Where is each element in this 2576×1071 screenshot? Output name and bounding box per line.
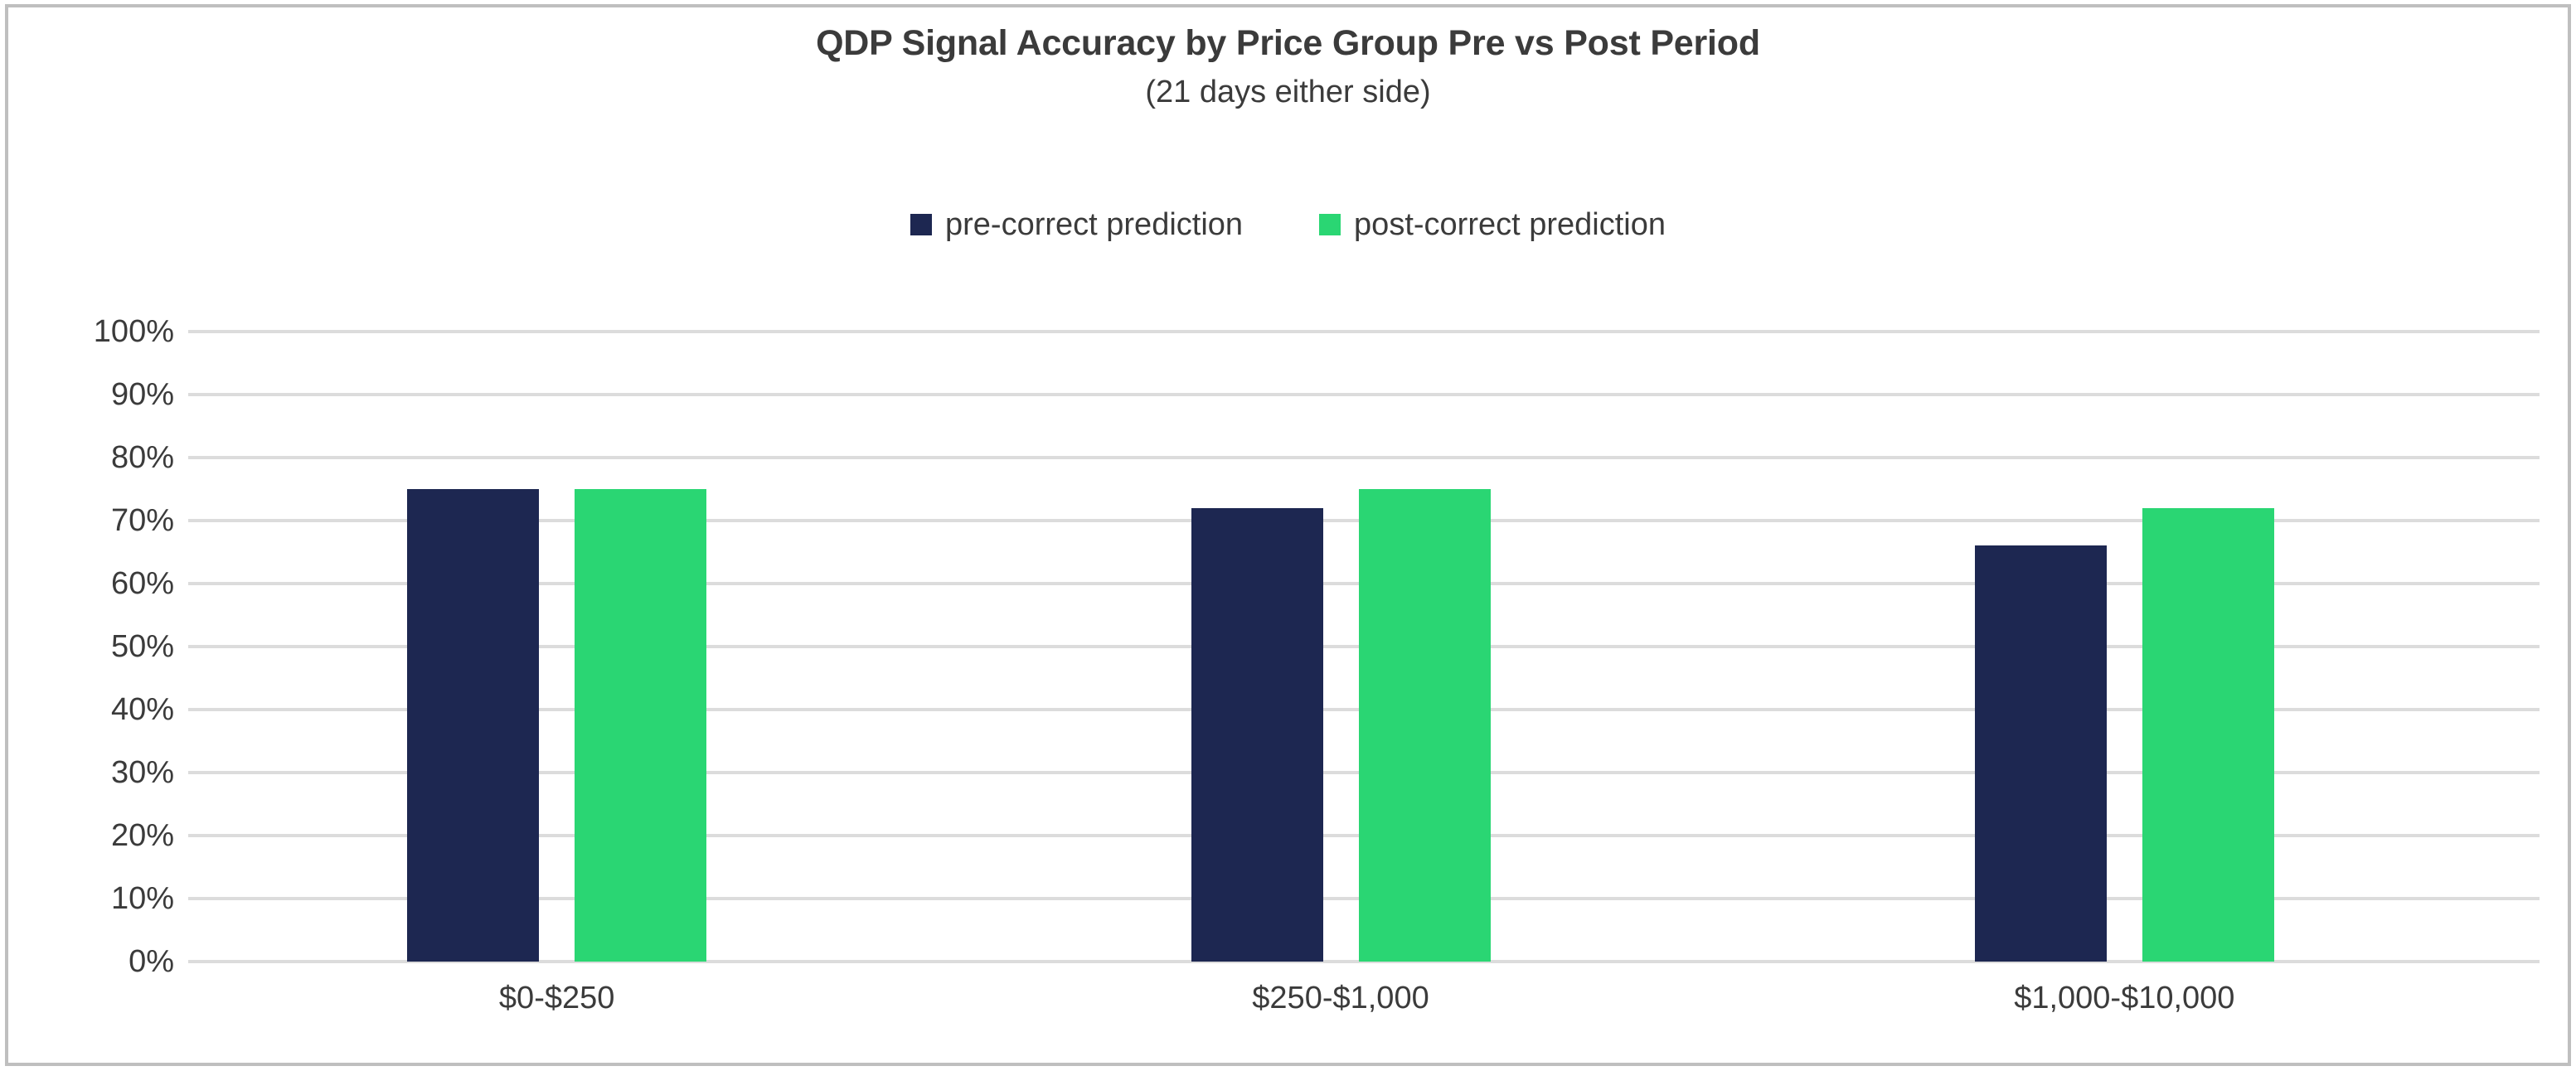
y-axis-tick-label: 60% [41,568,174,599]
y-axis-tick-label: 70% [41,505,174,536]
gridline [188,456,2540,459]
chart-frame: QDP Signal Accuracy by Price Group Pre v… [5,4,2571,1066]
x-axis-tick-label: $250-$1,000 [1252,982,1429,1014]
y-axis-tick-label: 80% [41,442,174,473]
y-axis-tick-label: 30% [41,757,174,788]
bar[interactable] [575,489,706,962]
gridline [188,330,2540,333]
y-axis-tick-label: 50% [41,631,174,662]
y-axis-tick-label: 10% [41,883,174,914]
plot-area [188,332,2540,962]
bar[interactable] [2142,508,2274,962]
y-axis-tick-label: 90% [41,379,174,410]
y-axis-tick-labels: 100%90%80%70%60%50%40%30%20%10%0% [41,332,174,962]
y-axis-tick-label: 20% [41,820,174,851]
x-axis-tick-labels: $0-$250$250-$1,000$1,000-$10,000 [188,982,2540,1032]
bar[interactable] [1191,508,1323,962]
y-axis-tick-label: 0% [41,946,174,977]
x-axis-tick-label: $1,000-$10,000 [2014,982,2234,1014]
y-axis-tick-label: 100% [41,316,174,347]
bar[interactable] [407,489,539,962]
chart-screenshot: QDP Signal Accuracy by Price Group Pre v… [0,0,2576,1071]
y-axis-tick-label: 40% [41,694,174,725]
plot-wrapper: 100%90%80%70%60%50%40%30%20%10%0% $0-$25… [8,7,2568,1063]
x-axis-tick-label: $0-$250 [499,982,614,1014]
bar[interactable] [1975,545,2107,962]
gridline [188,393,2540,396]
bar[interactable] [1359,489,1491,962]
